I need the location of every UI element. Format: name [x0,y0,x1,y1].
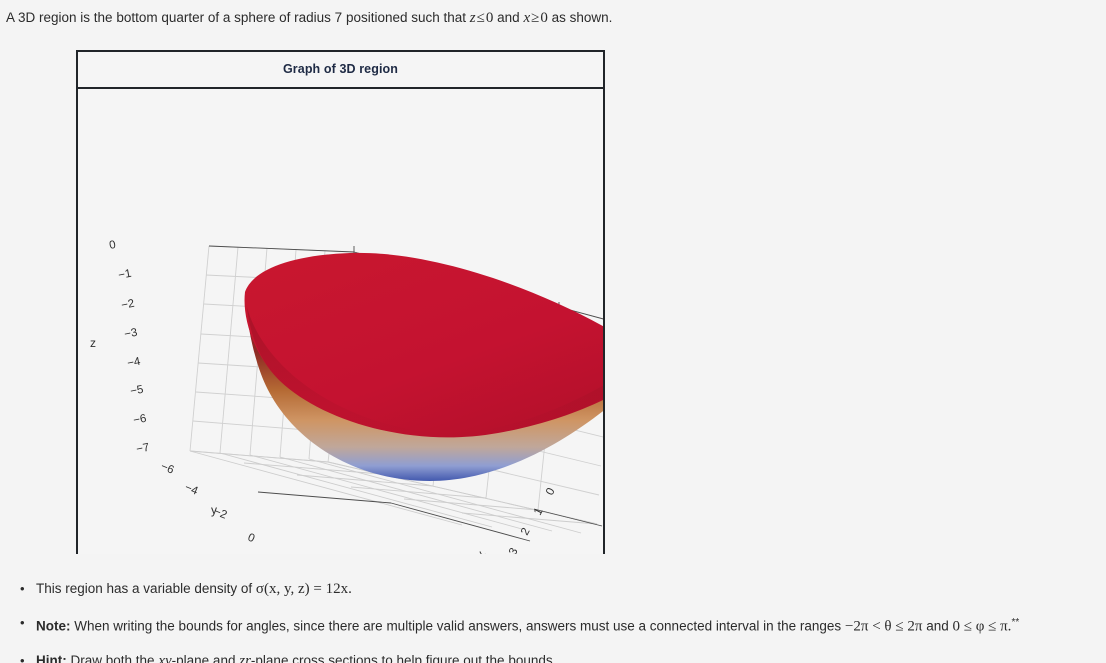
z-tick-7: −7 [135,442,150,456]
prompt-tail: as shown. [552,10,613,25]
y-axis-label: y [211,503,217,517]
note-note-mid: and [926,619,949,634]
hint-text-after: -plane cross sections to help figure out… [251,653,556,663]
z-tick-1: −1 [117,268,132,282]
note-note-math2: 0 ≤ φ ≤ π. [952,619,1011,635]
figure-title: Graph of 3D region [78,52,603,89]
z-tick-6: −6 [132,413,147,427]
z-tick-5: −5 [129,384,144,398]
prompt-cond1-op: ≤ [476,10,486,26]
note-note-math1: −2π < θ ≤ 2π [845,619,922,635]
note-note-stars: ** [1011,617,1019,628]
note-note-text: When writing the bounds for angles, sinc… [74,619,841,634]
plot-area[interactable]: 0 −1 −2 −3 −4 −5 −6 −7 z −6 −4 −2 [78,89,603,554]
note-item-note: Note: When writing the bounds for angles… [36,606,1106,644]
prompt-cond1-val: 0 [486,10,494,26]
notes-list: This region has a variable density of σ(… [0,572,1106,663]
prompt-cond2-op: ≥ [530,10,540,26]
hint-math2: zr [239,653,251,663]
hint-label: Hint: [36,653,67,663]
prompt-lead: A 3D region is the bottom quarter of a s… [6,10,466,25]
note-item-density: This region has a variable density of σ(… [36,572,1106,606]
hint-text-before: Draw both the [71,653,155,663]
note-item-hint: Hint: Draw both the xy-plane and zr-plan… [36,644,1106,663]
prompt-cond1-var: z [470,10,476,26]
z-tick-3: −3 [123,327,138,341]
z-axis-label: z [90,336,96,350]
prompt-conj: and [497,10,520,25]
page-root: A 3D region is the bottom quarter of a s… [0,0,1106,663]
note-label: Note: [36,619,71,634]
z-tick-2: −2 [120,298,135,312]
note-density-text: This region has a variable density of [36,581,252,596]
hint-math1: xy [158,653,171,663]
figure-panel: Graph of 3D region [76,50,605,554]
note-density-math: σ(x, y, z) = 12x. [256,581,352,597]
problem-statement: A 3D region is the bottom quarter of a s… [6,8,1096,28]
prompt-cond2-val: 0 [540,10,548,26]
plot-3d-svg[interactable]: 0 −1 −2 −3 −4 −5 −6 −7 z −6 −4 −2 [78,89,603,554]
hint-mid: -plane and [172,653,236,663]
